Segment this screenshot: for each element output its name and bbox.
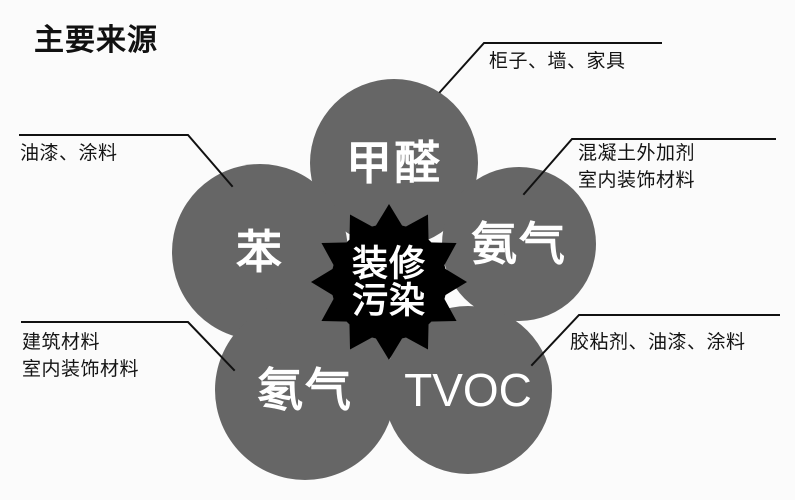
callout-label-adhesive-paint-coating: 胶粘剂、油漆、涂料 [570, 330, 746, 357]
callout-label-cabinet-wall-furniture: 柜子、墙、家具 [489, 49, 626, 76]
callout-line-cabinet-wall-furniture-1: 柜子、墙、家具 [489, 49, 626, 76]
callout-label-paint-coating: 油漆、涂料 [20, 141, 118, 168]
callout-line-building-materials-interior-2: 室内装饰材料 [22, 357, 139, 384]
infographic-canvas: 主要来源 甲醛苯氨气氡气TVOC 装修 污染 油漆、涂料柜子、墙、家具混凝土外加… [0, 0, 795, 500]
callout-label-concrete-admixture-interior: 混凝土外加剂室内装饰材料 [578, 141, 695, 195]
callout-label-building-materials-interior: 建筑材料室内装饰材料 [22, 330, 139, 384]
callout-line-paint-coating-1: 油漆、涂料 [20, 141, 118, 168]
center-star-disc[interactable] [331, 224, 447, 340]
callout-line-building-materials-interior-1: 建筑材料 [22, 330, 139, 357]
callout-line-concrete-admixture-interior-1: 混凝土外加剂 [578, 141, 695, 168]
diagram-svg [0, 0, 795, 500]
callout-line-concrete-admixture-interior-2: 室内装饰材料 [578, 168, 695, 195]
node-circle-ammonia[interactable] [442, 167, 596, 321]
callout-line-adhesive-paint-coating-1: 胶粘剂、油漆、涂料 [570, 330, 746, 357]
